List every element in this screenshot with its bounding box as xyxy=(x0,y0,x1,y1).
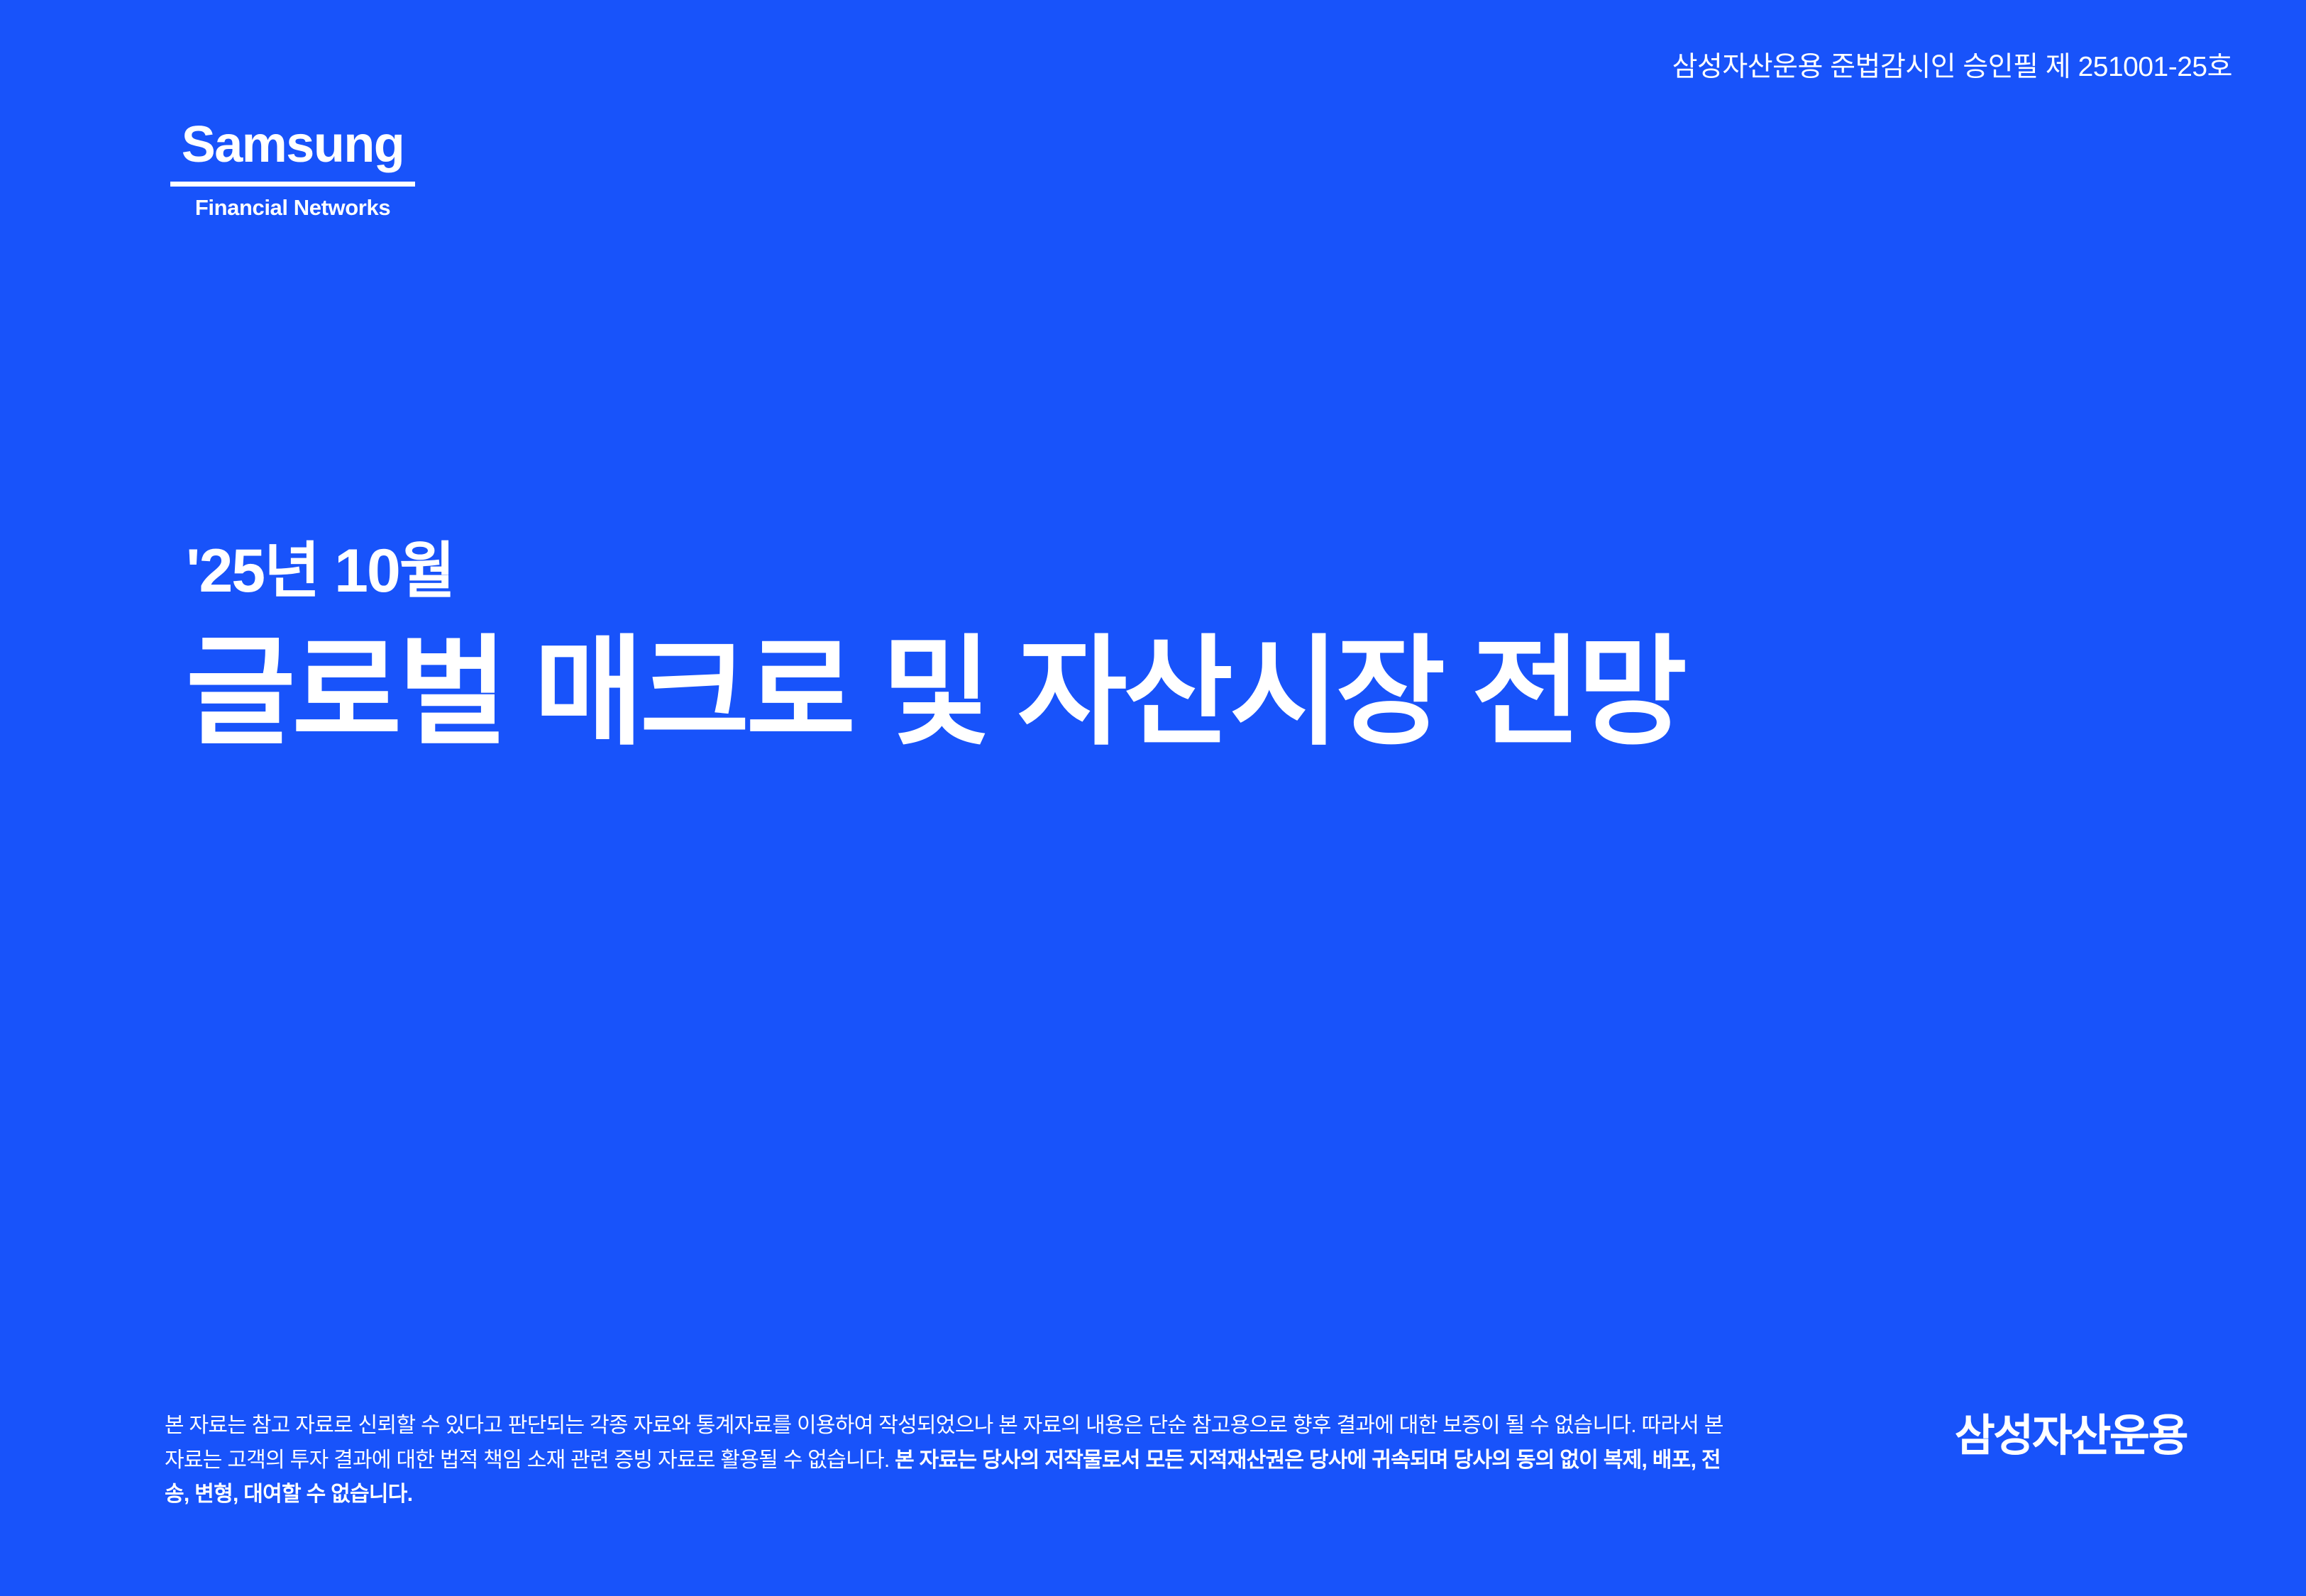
page-title: 글로벌 매크로 및 자산시장 전망 xyxy=(186,628,1684,757)
legal-disclaimer: 본 자료는 참고 자료로 신뢰할 수 있다고 판단되는 각종 자료와 통계자료를… xyxy=(165,1409,1733,1512)
compliance-approval-notice: 삼성자산운용 준법감시인 승인필 제 251001-25호 xyxy=(1672,51,2232,84)
samsung-asset-management-logo: 삼성자산운용 xyxy=(1955,1414,2187,1458)
samsung-wordmark: Samsung xyxy=(170,119,415,170)
cover-slide: 삼성자산운용 준법감시인 승인필 제 251001-25호 Samsung Fi… xyxy=(0,0,2306,1596)
publication-date: '25년 10월 xyxy=(186,539,1684,603)
hero-block: '25년 10월 글로벌 매크로 및 자산시장 전망 xyxy=(186,539,1684,758)
logo-divider-rule xyxy=(170,182,415,187)
samsung-financial-networks-logo: Samsung Financial Networks xyxy=(170,119,415,218)
footer: 본 자료는 참고 자료로 신뢰할 수 있다고 판단되는 각종 자료와 통계자료를… xyxy=(0,1387,2306,1522)
financial-networks-tagline: Financial Networks xyxy=(170,196,415,218)
